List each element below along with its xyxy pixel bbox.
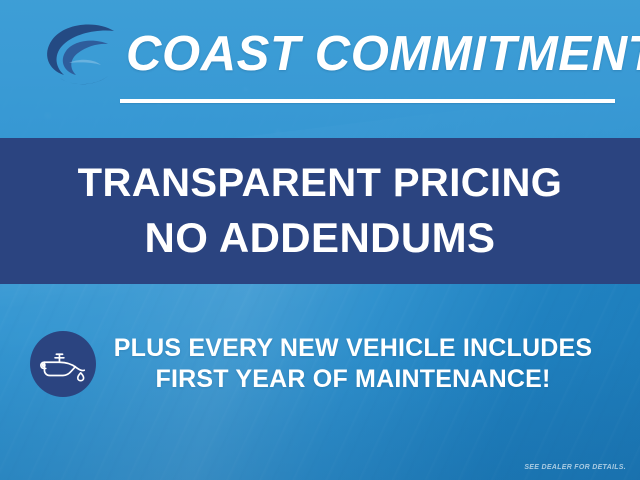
oil-can-icon-badge [30,331,96,397]
promo-row: PLUS EVERY NEW VEHICLE INCLUDES FIRST YE… [0,318,640,410]
disclaimer-text: SEE DEALER FOR DETAILS. [524,464,626,471]
banner-header: COAST COMMITMENT [0,0,640,138]
coast-wave-logo [38,18,122,94]
coast-commitment-banner: COAST COMMITMENT TRANSPARENT PRICING NO … [0,0,640,480]
headline-no-addendums: NO ADDENDUMS [145,213,496,263]
promo-line-1: PLUS EVERY NEW VEHICLE INCLUDES [112,333,594,364]
promo-line-2: FIRST YEAR OF MAINTENANCE! [112,364,594,395]
page-title: COAST COMMITMENT [126,19,640,89]
oil-can-icon [40,346,86,382]
header-content: COAST COMMITMENT [0,0,640,138]
promo-text-block: PLUS EVERY NEW VEHICLE INCLUDES FIRST YE… [112,333,594,395]
headline-band: TRANSPARENT PRICING NO ADDENDUMS [0,138,640,284]
header-divider-rule [120,99,615,103]
headline-transparent-pricing: TRANSPARENT PRICING [78,159,563,207]
